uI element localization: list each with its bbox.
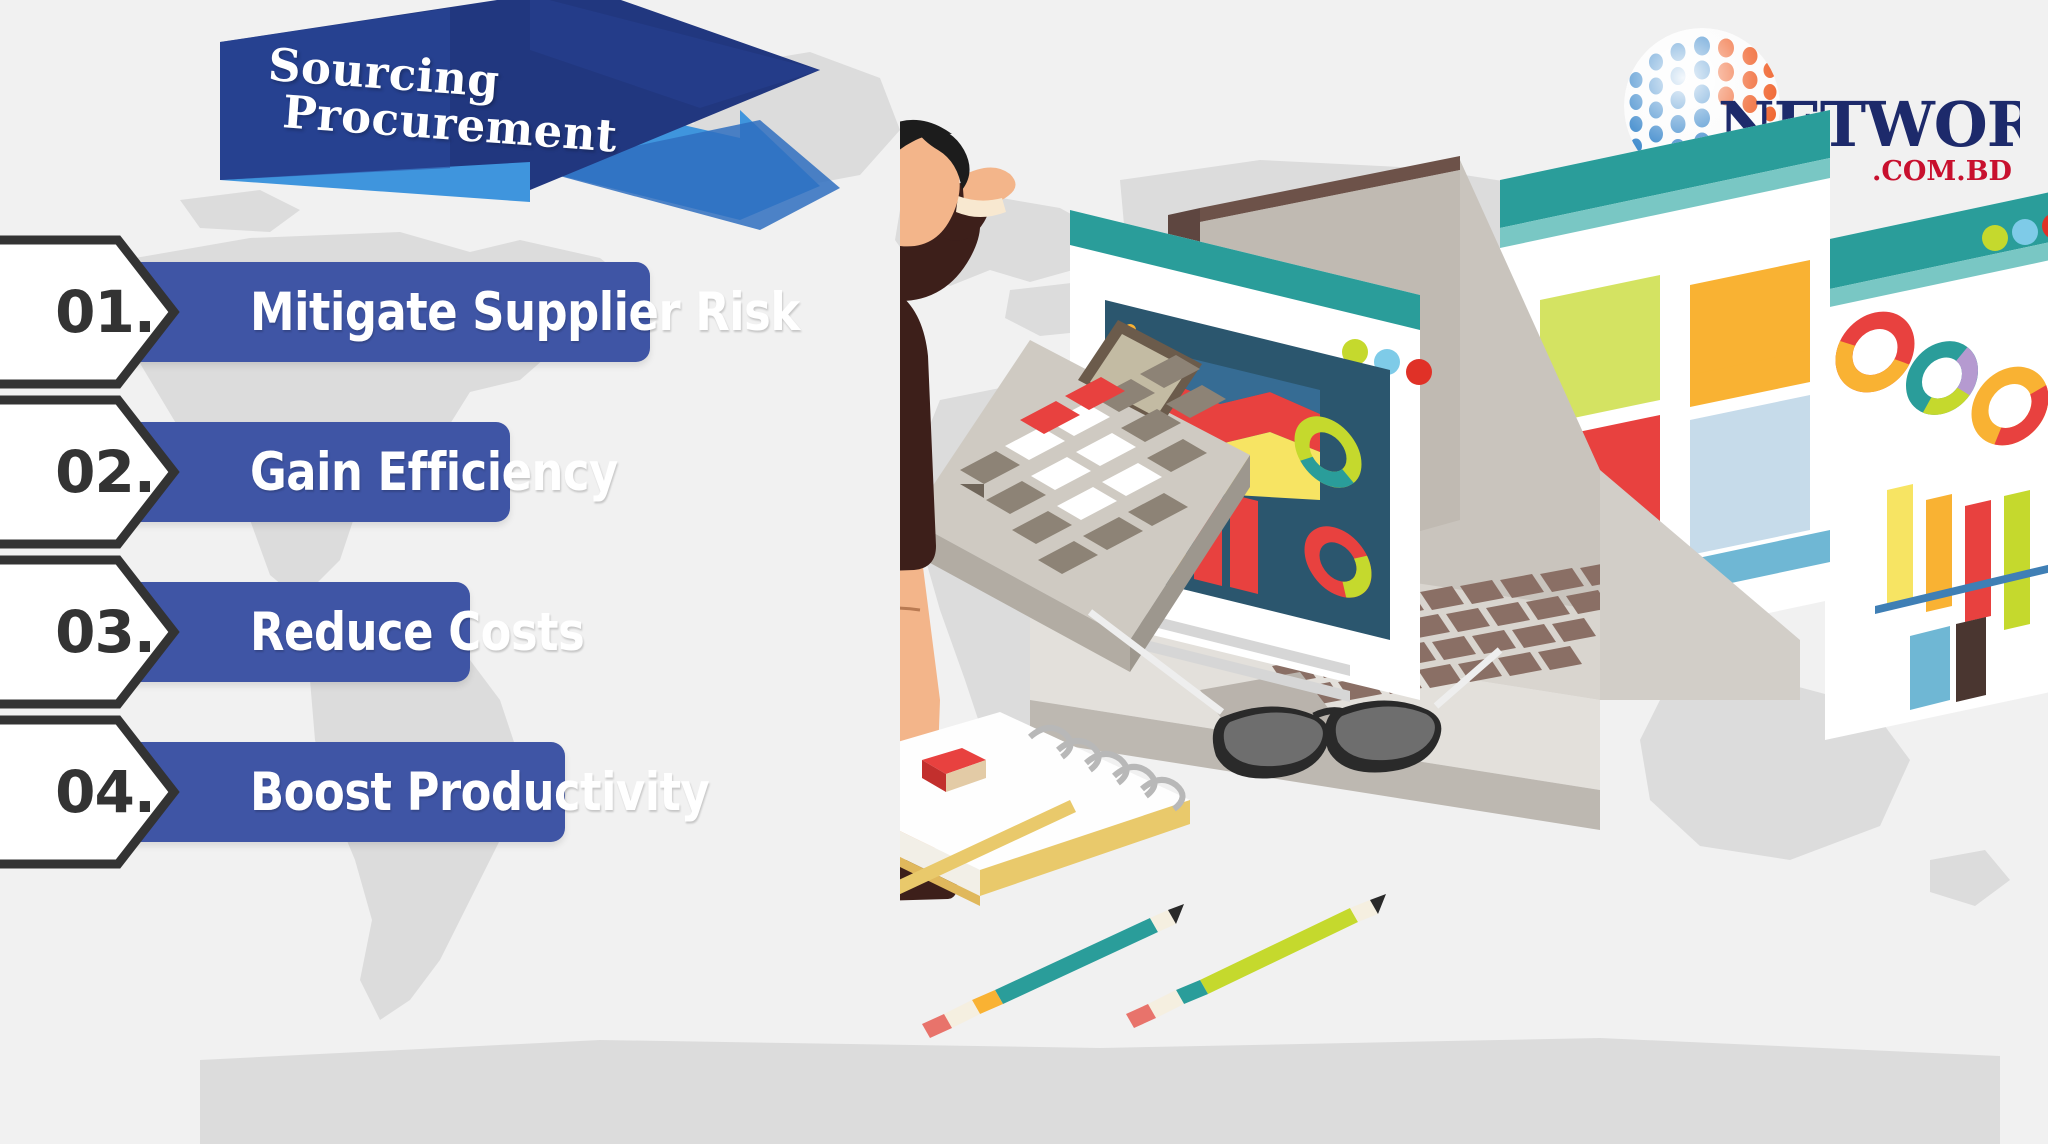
- list-item-number: 04.: [0, 712, 210, 872]
- list-item-label: Mitigate Supplier Risk: [250, 282, 800, 343]
- list-item-label: Gain Efficiency: [250, 442, 618, 503]
- list-item[interactable]: Gain Efficiency 02.: [0, 392, 900, 552]
- list-item[interactable]: Mitigate Supplier Risk 01.: [0, 232, 900, 392]
- banner-arrow: Sourcing Procurement: [200, 0, 1000, 230]
- list-item-number: 01.: [0, 232, 210, 392]
- browser-window-charts: [1825, 190, 2048, 740]
- list-item-number: 02.: [0, 392, 210, 552]
- list-item[interactable]: Reduce Costs 03.: [0, 552, 900, 712]
- infographic-canvas: Sourcing Procurement: [0, 0, 2048, 1144]
- list-item-number: 03.: [0, 552, 210, 712]
- benefits-list: Mitigate Supplier Risk 01. Gain Efficien…: [0, 232, 900, 872]
- list-item[interactable]: Boost Productivity 04.: [0, 712, 900, 872]
- list-item-label: Boost Productivity: [250, 762, 709, 823]
- list-item-label: Reduce Costs: [250, 602, 584, 663]
- workspace-illustration: [900, 0, 2048, 1144]
